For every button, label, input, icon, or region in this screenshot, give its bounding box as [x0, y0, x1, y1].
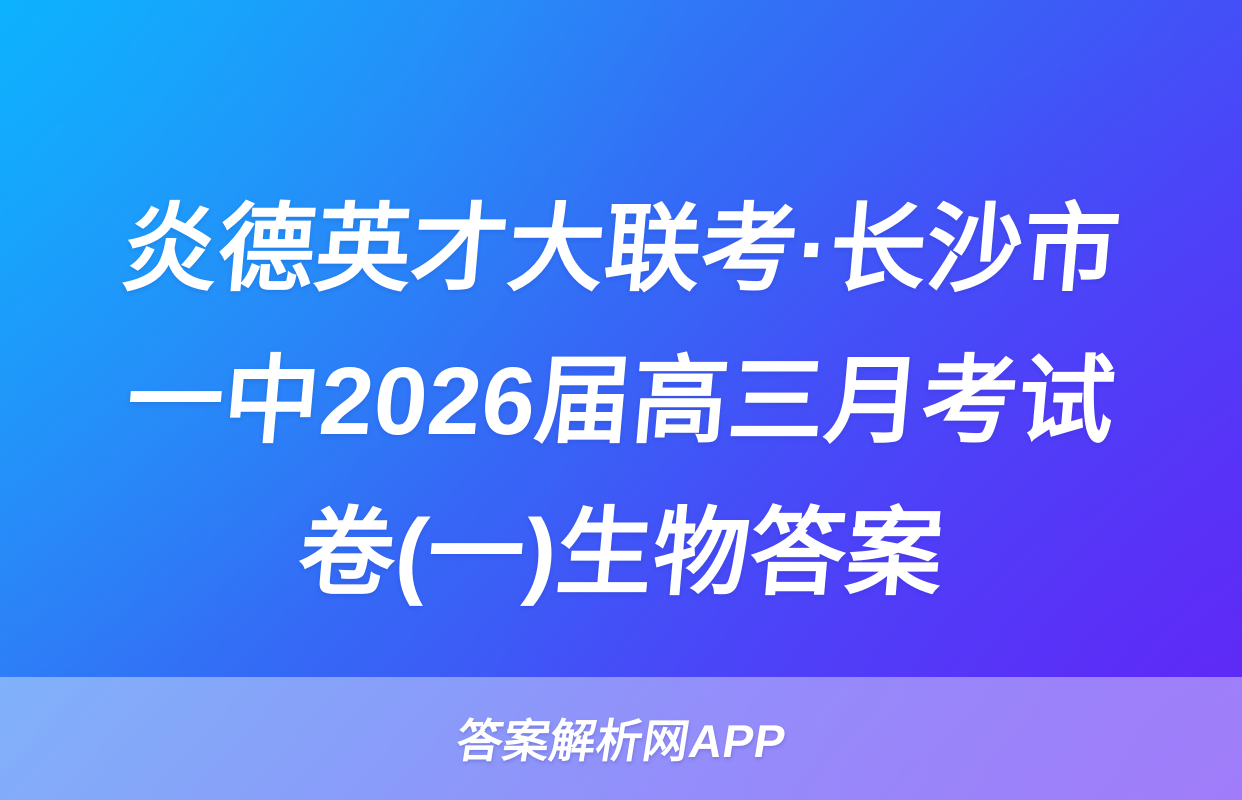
footer-brand-band: 答案解析网APP [0, 677, 1242, 800]
title-line-3: 卷(一)生物答案 [45, 478, 1196, 630]
title-line-2: 一中2026届高三月考试 [45, 326, 1196, 478]
title-line-1: 炎德英才大联考·长沙市 [45, 174, 1196, 326]
answer-poster: 炎德英才大联考·长沙市 一中2026届高三月考试 卷(一)生物答案 答案解析网A… [0, 0, 1242, 800]
page-title: 炎德英才大联考·长沙市 一中2026届高三月考试 卷(一)生物答案 [0, 174, 1242, 630]
app-brand-label: 答案解析网APP [453, 718, 789, 764]
